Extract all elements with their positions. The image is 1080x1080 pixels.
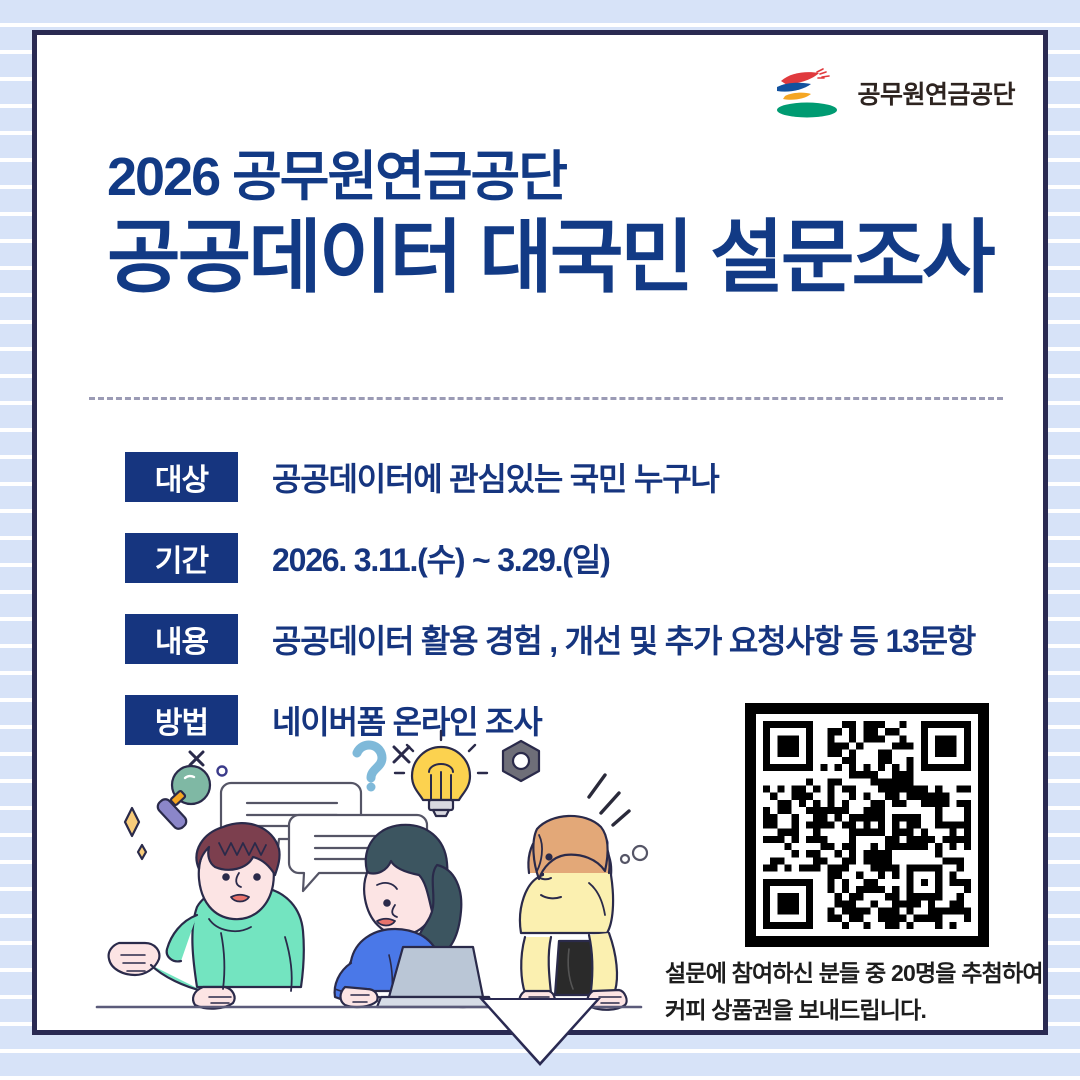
person-yellow-top	[519, 816, 626, 1010]
illustration-three-people	[89, 725, 649, 1025]
magnifier-icon	[155, 766, 210, 831]
info-badge-period: 기간	[125, 533, 238, 583]
page-title-line1: 2026 공무원연금공단	[107, 147, 993, 207]
small-circle-icon	[218, 767, 227, 776]
sparkle-icon-small	[138, 845, 146, 859]
twinkle-icon-left	[190, 752, 203, 765]
info-value-target: 공공데이터에 관심있는 국민 누구나	[272, 454, 719, 500]
question-mark-icon	[357, 745, 382, 792]
qr-code-canvas	[763, 721, 971, 929]
sparkle-icon-large	[125, 808, 139, 836]
prize-caption-line2: 커피 상품권을 보내드립니다.	[665, 992, 1065, 1029]
prize-caption: 설문에 참여하신 분들 중 20명을 추첨하여 커피 상품권을 보내드립니다.	[665, 955, 1065, 1030]
qr-code[interactable]	[745, 703, 989, 947]
info-badge-target: 대상	[125, 452, 238, 502]
lightbulb-icon	[395, 731, 487, 816]
twinkle-icon-right	[394, 747, 409, 762]
organization-logo: 공무원연금공단	[767, 67, 1015, 119]
logo-text: 공무원연금공단	[857, 75, 1015, 111]
poster-root: 공무원연금공단 2026 공무원연금공단 공공데이터 대국민 설문조사 대상 공…	[0, 0, 1080, 1080]
poster-card: 공무원연금공단 2026 공무원연금공단 공공데이터 대국민 설문조사 대상 공…	[32, 30, 1048, 1035]
prize-caption-line1: 설문에 참여하신 분들 중 20명을 추첨하여	[665, 955, 1065, 992]
info-badge-content: 내용	[125, 614, 238, 664]
info-row-period: 기간 2026. 3.11.(수) ~ 3.29.(일)	[125, 528, 1025, 588]
page-title-line2: 공공데이터 대국민 설문조사	[107, 211, 993, 305]
hex-nut-icon	[503, 741, 539, 781]
info-row-target: 대상 공공데이터에 관심있는 국민 누구나	[125, 447, 1025, 507]
info-value-content: 공공데이터 활용 경험 , 개선 및 추가 요청사항 등 13문항	[272, 616, 975, 662]
gepco-logo-mark-icon	[767, 67, 841, 119]
info-value-period: 2026. 3.11.(수) ~ 3.29.(일)	[272, 535, 610, 581]
title-block: 2026 공무원연금공단 공공데이터 대국민 설문조사	[107, 147, 993, 306]
dashed-divider	[89, 397, 1003, 400]
info-row-content: 내용 공공데이터 활용 경험 , 개선 및 추가 요청사항 등 13문항	[125, 609, 1025, 669]
